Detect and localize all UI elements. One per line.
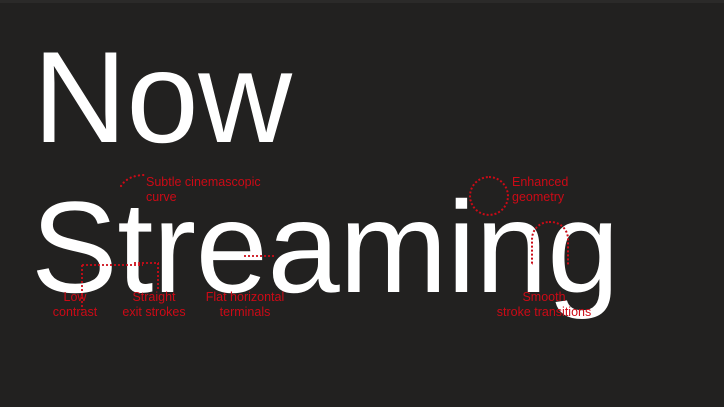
annotation-label-straight-exit-strokes: Straight exit strokes [110, 290, 198, 319]
annotation-label-subtle-cinemascopic-curve: Subtle cinemascopic curve [146, 175, 316, 204]
annotation-label-enhanced-geometry: Enhanced geometry [512, 175, 632, 204]
dotted-corner-marker-horizontal [81, 264, 143, 266]
dotted-circle-marker [469, 176, 509, 216]
annotation-label-low-contrast: Low contrast [39, 290, 111, 319]
specimen-canvas: Now Streaming Subtle cinemascopic curve … [0, 0, 724, 407]
top-edge-strip [0, 0, 724, 3]
dotted-line-marker [243, 255, 276, 257]
annotation-label-smooth-stroke-transitions: Smooth stroke transitions [478, 290, 610, 319]
headline-line-now: Now [33, 32, 292, 162]
dotted-arch-marker [531, 221, 569, 265]
dotted-arc-icon [120, 174, 146, 188]
annotation-label-flat-horizontal-terminals: Flat horizontal terminals [190, 290, 300, 319]
dotted-bracket-marker-vertical [157, 262, 159, 290]
dotted-bracket-marker-horizontal [133, 262, 159, 264]
